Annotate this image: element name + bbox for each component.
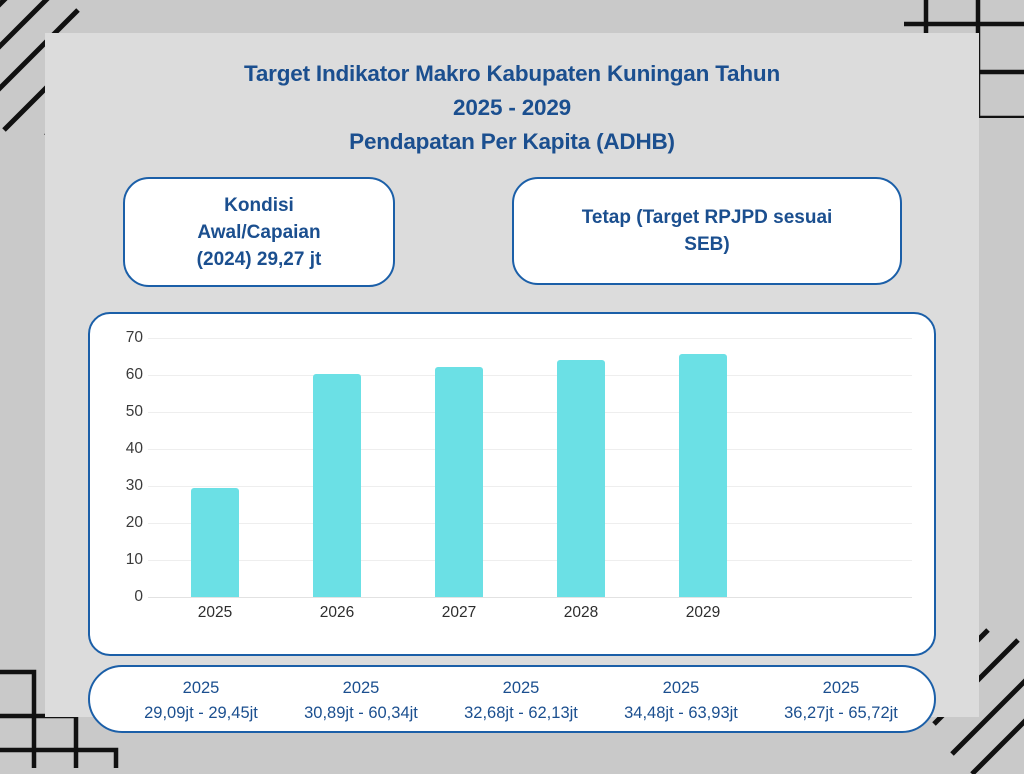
footer-cell-year: 2025 (432, 676, 610, 701)
y-axis-tick-label: 40 (109, 440, 143, 458)
footer-cell-year: 2025 (752, 676, 930, 701)
x-axis-tick-label: 2025 (154, 604, 276, 622)
footer-cell-range: 32,68jt - 62,13jt (432, 701, 610, 726)
y-axis-tick-label: 0 (109, 588, 143, 606)
chart-card: 010203040506070 20252026202720282029 (88, 312, 936, 656)
target-status-line-1: Tetap (Target RPJPD sesuai (582, 204, 833, 231)
initial-condition-line-3: (2024) 29,27 jt (197, 246, 322, 273)
y-axis: 010203040506070 (103, 338, 143, 597)
y-axis-tick-label: 70 (109, 329, 143, 347)
bar-2026[interactable] (313, 374, 361, 597)
target-status-line-2: SEB) (582, 231, 833, 258)
bar-2027[interactable] (435, 367, 483, 597)
initial-condition-line-2: Awal/Capaian (197, 219, 322, 246)
footer-cell-year: 2025 (592, 676, 770, 701)
info-box-target-status[interactable]: Tetap (Target RPJPD sesuai SEB) (512, 177, 902, 285)
footer-range-cell: 202530,89jt - 60,34jt (272, 676, 450, 726)
chart-bars (148, 338, 912, 597)
bar-2029[interactable] (679, 354, 727, 597)
footer-cell-range: 29,09jt - 29,45jt (112, 701, 290, 726)
y-axis-tick-label: 60 (109, 366, 143, 384)
footer-range-cell: 202534,48jt - 63,93jt (592, 676, 770, 726)
bar-2028[interactable] (557, 360, 605, 597)
footer-cell-range: 36,27jt - 65,72jt (752, 701, 930, 726)
footer-range-cell: 202536,27jt - 65,72jt (752, 676, 930, 726)
footer-cell-range: 30,89jt - 60,34jt (272, 701, 450, 726)
bar-slot (642, 338, 764, 597)
info-box-initial-condition[interactable]: Kondisi Awal/Capaian (2024) 29,27 jt (123, 177, 395, 287)
footer-range-cell: 202529,09jt - 29,45jt (112, 676, 290, 726)
title-line-3: Pendapatan Per Kapita (ADHB) (45, 125, 979, 159)
bar-slot (398, 338, 520, 597)
footer-cell-year: 2025 (112, 676, 290, 701)
footer-range-cell: 202532,68jt - 62,13jt (432, 676, 610, 726)
footer-cell-year: 2025 (272, 676, 450, 701)
x-axis-tick-label: 2026 (276, 604, 398, 622)
bar-chart: 010203040506070 (90, 314, 934, 654)
title-line-2: 2025 - 2029 (45, 91, 979, 125)
bar-2025[interactable] (191, 488, 239, 597)
bar-slot (520, 338, 642, 597)
footer-cell-range: 34,48jt - 63,93jt (592, 701, 770, 726)
y-axis-tick-label: 20 (109, 514, 143, 532)
x-axis-tick-label: 2027 (398, 604, 520, 622)
y-axis-tick-label: 30 (109, 477, 143, 495)
title-line-1: Target Indikator Makro Kabupaten Kuninga… (45, 57, 979, 91)
page-title: Target Indikator Makro Kabupaten Kuninga… (45, 57, 979, 159)
gridline (148, 597, 912, 598)
initial-condition-line-1: Kondisi (197, 192, 322, 219)
bar-slot (154, 338, 276, 597)
bar-slot (276, 338, 398, 597)
x-axis-tick-label: 2028 (520, 604, 642, 622)
y-axis-tick-label: 50 (109, 403, 143, 421)
footer-ranges-card: 202529,09jt - 29,45jt202530,89jt - 60,34… (88, 665, 936, 733)
slide-panel: Target Indikator Makro Kabupaten Kuninga… (45, 33, 979, 717)
x-axis-tick-label: 2029 (642, 604, 764, 622)
y-axis-tick-label: 10 (109, 551, 143, 569)
